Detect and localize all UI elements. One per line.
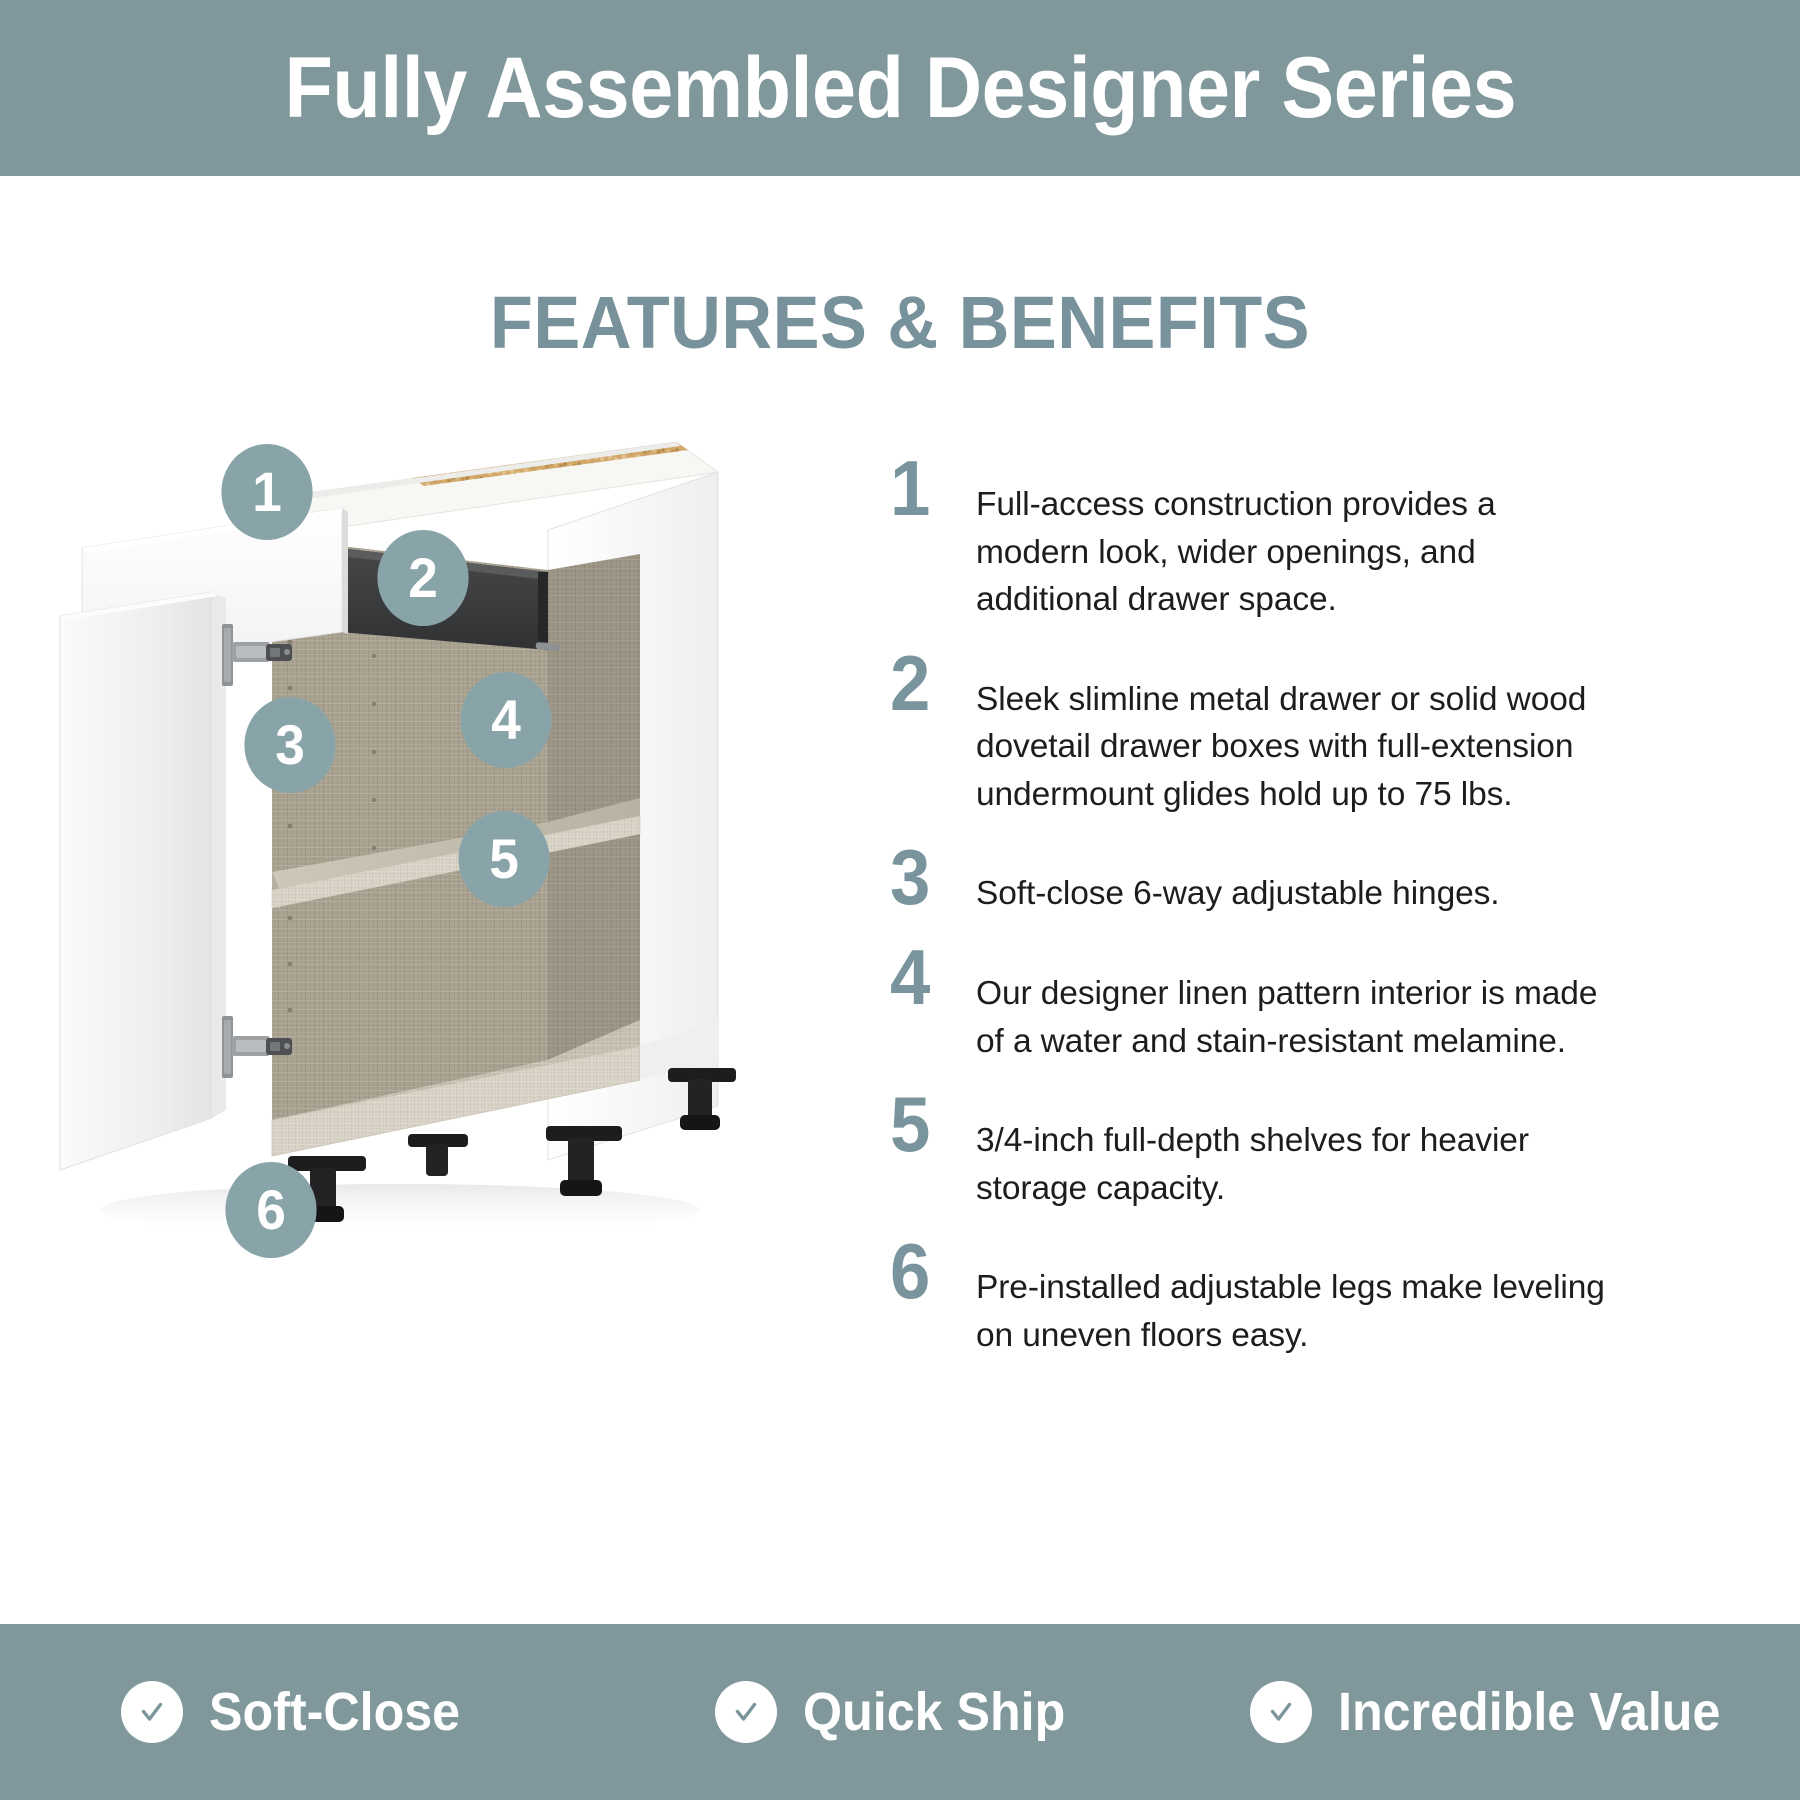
feature-item-3: 3 Soft-close 6-way adjustable hinges. — [890, 844, 1610, 918]
feature-text-3: Soft-close 6-way adjustable hinges. — [976, 844, 1610, 918]
check-circle-icon — [715, 1681, 777, 1743]
callout-badge-1[interactable]: 1 — [221, 444, 312, 540]
header-band: Fully Assembled Designer Series — [0, 0, 1800, 176]
feature-text-2: Sleek slimline metal drawer or solid woo… — [976, 650, 1610, 819]
feature-number-5: 5 — [890, 1091, 970, 1157]
feature-text-1: Full-access construction provides a mode… — [976, 455, 1610, 624]
page-title: Fully Assembled Designer Series — [284, 45, 1516, 131]
cabinet-door-panel — [60, 592, 212, 1170]
feature-item-5: 5 3/4-inch full-depth shelves for heavie… — [890, 1091, 1610, 1212]
feature-item-6: 6 Pre-installed adjustable legs make lev… — [890, 1238, 1610, 1359]
callout-badge-6[interactable]: 6 — [225, 1162, 316, 1258]
feature-text-5: 3/4-inch full-depth shelves for heavier … — [976, 1091, 1610, 1212]
feature-number-1: 1 — [890, 455, 970, 521]
leg-front-right — [546, 1126, 622, 1196]
callout-badge-4[interactable]: 4 — [460, 672, 551, 768]
check-circle-icon — [1250, 1681, 1312, 1743]
feature-number-2: 2 — [890, 650, 970, 716]
feature-number-3: 3 — [890, 844, 970, 910]
footer-band: Soft-Close Quick Ship Incredible Value — [0, 1624, 1800, 1800]
callout-badge-5[interactable]: 5 — [458, 811, 549, 907]
footer-label-soft-close: Soft-Close — [209, 1685, 460, 1739]
feature-number-4: 4 — [890, 944, 970, 1010]
leg-mid — [408, 1134, 468, 1176]
section-title: FEATURES & BENEFITS — [45, 286, 1755, 360]
footer-item-soft-close: Soft-Close — [0, 1681, 600, 1743]
check-circle-icon — [121, 1681, 183, 1743]
infographic-page: Fully Assembled Designer Series FEATURES… — [0, 0, 1800, 1800]
feature-item-1: 1 Full-access construction provides a mo… — [890, 455, 1610, 624]
callout-badge-3[interactable]: 3 — [244, 697, 335, 793]
footer-label-incredible-value: Incredible Value — [1338, 1685, 1720, 1739]
feature-number-6: 6 — [890, 1238, 970, 1304]
callout-badge-4-label: 4 — [491, 692, 521, 748]
callout-badge-3-label: 3 — [275, 717, 305, 773]
features-list: 1 Full-access construction provides a mo… — [890, 455, 1610, 1385]
feature-item-4: 4 Our designer linen pattern interior is… — [890, 944, 1610, 1065]
callout-badge-5-label: 5 — [489, 831, 519, 887]
footer-item-quick-ship: Quick Ship — [600, 1681, 1200, 1743]
feature-text-6: Pre-installed adjustable legs make level… — [976, 1238, 1610, 1359]
callout-badge-2[interactable]: 2 — [377, 530, 468, 626]
callout-badge-6-label: 6 — [256, 1182, 286, 1238]
feature-item-2: 2 Sleek slimline metal drawer or solid w… — [890, 650, 1610, 819]
drawer-box-right-shade — [538, 572, 548, 650]
callout-badge-1-label: 1 — [252, 464, 282, 520]
drawer-front-right-edge — [342, 508, 348, 634]
ground-shadow — [100, 1184, 700, 1236]
feature-text-4: Our designer linen pattern interior is m… — [976, 944, 1610, 1065]
product-illustration: 1 2 3 4 5 6 — [40, 420, 830, 1320]
footer-item-incredible-value: Incredible Value — [1200, 1681, 1800, 1743]
footer-label-quick-ship: Quick Ship — [803, 1685, 1065, 1739]
callout-badge-2-label: 2 — [408, 550, 438, 606]
